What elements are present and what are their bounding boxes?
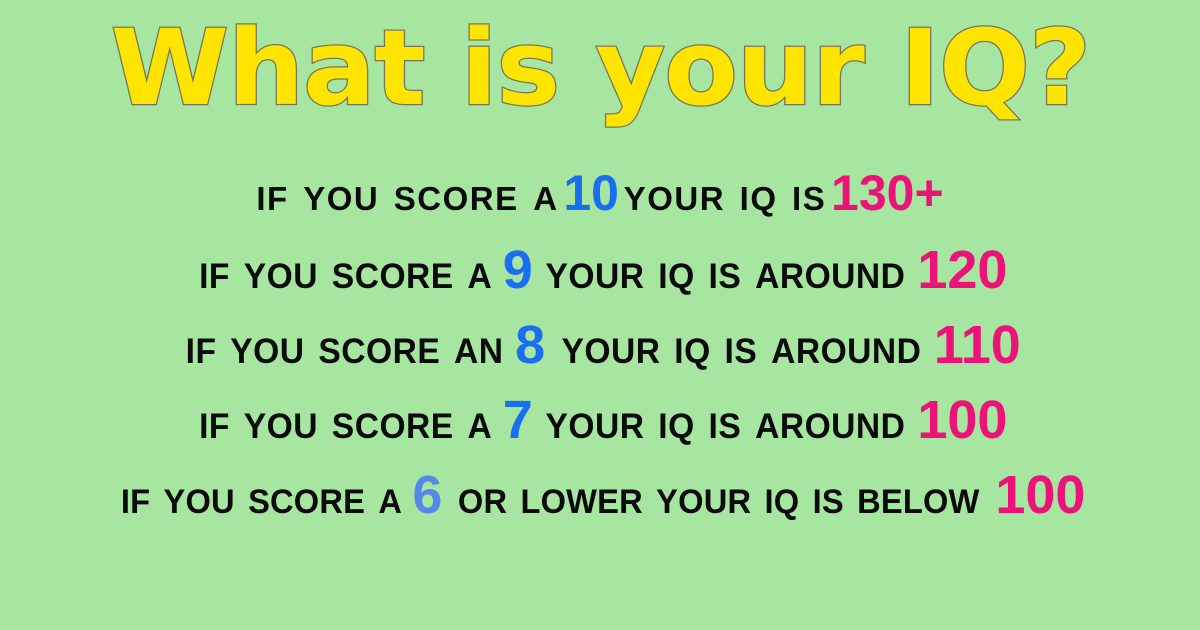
page-title: What is your IQ? — [110, 16, 1089, 120]
list-item: if you score a7your iq is around100 — [0, 393, 1200, 455]
line-3-iq-value: 110 — [934, 315, 1021, 375]
line-3-prefix-text: if you score an — [186, 321, 504, 371]
iq-quiz-poster: What is your IQ? If you score a10your iq… — [0, 0, 1200, 630]
line-5-prefix-text: if you score a — [120, 473, 401, 522]
line-4-prefix-text: if you score a — [199, 396, 492, 446]
line-4-score-value: 7 — [503, 390, 533, 450]
list-item: If you score a10your iq is130+ — [0, 168, 1200, 230]
scoring-key-list: If you score a10your iq is130+ if you sc… — [0, 168, 1200, 543]
title-container: What is your IQ? — [0, 16, 1200, 120]
line-4-iq-value: 100 — [917, 390, 1007, 450]
line-1-middle-text: your iq is — [624, 167, 826, 220]
line-5-iq-value: 100 — [995, 465, 1085, 525]
line-5-middle-text: or lower your iq is below — [458, 473, 980, 522]
line-1-score-value: 10 — [563, 165, 619, 221]
line-2-score-value: 9 — [503, 240, 533, 300]
line-1-iq-value: 130+ — [831, 165, 944, 221]
line-3-middle-text: your iq is around — [561, 321, 921, 371]
list-item: if you score a9your iq is around120 — [0, 243, 1200, 305]
line-3-score-value: 8 — [515, 315, 545, 375]
line-1-prefix-text: If you score a — [256, 167, 558, 220]
line-2-prefix-text: if you score a — [199, 246, 492, 296]
line-2-iq-value: 120 — [917, 240, 1007, 300]
list-item: if you score an8your iq is around110 — [0, 318, 1200, 380]
list-item: if you score a6or lower your iq is below… — [0, 468, 1200, 530]
line-4-middle-text: your iq is around — [545, 396, 905, 446]
line-5-score-value: 6 — [412, 465, 442, 525]
line-2-middle-text: your iq is around — [545, 246, 905, 296]
